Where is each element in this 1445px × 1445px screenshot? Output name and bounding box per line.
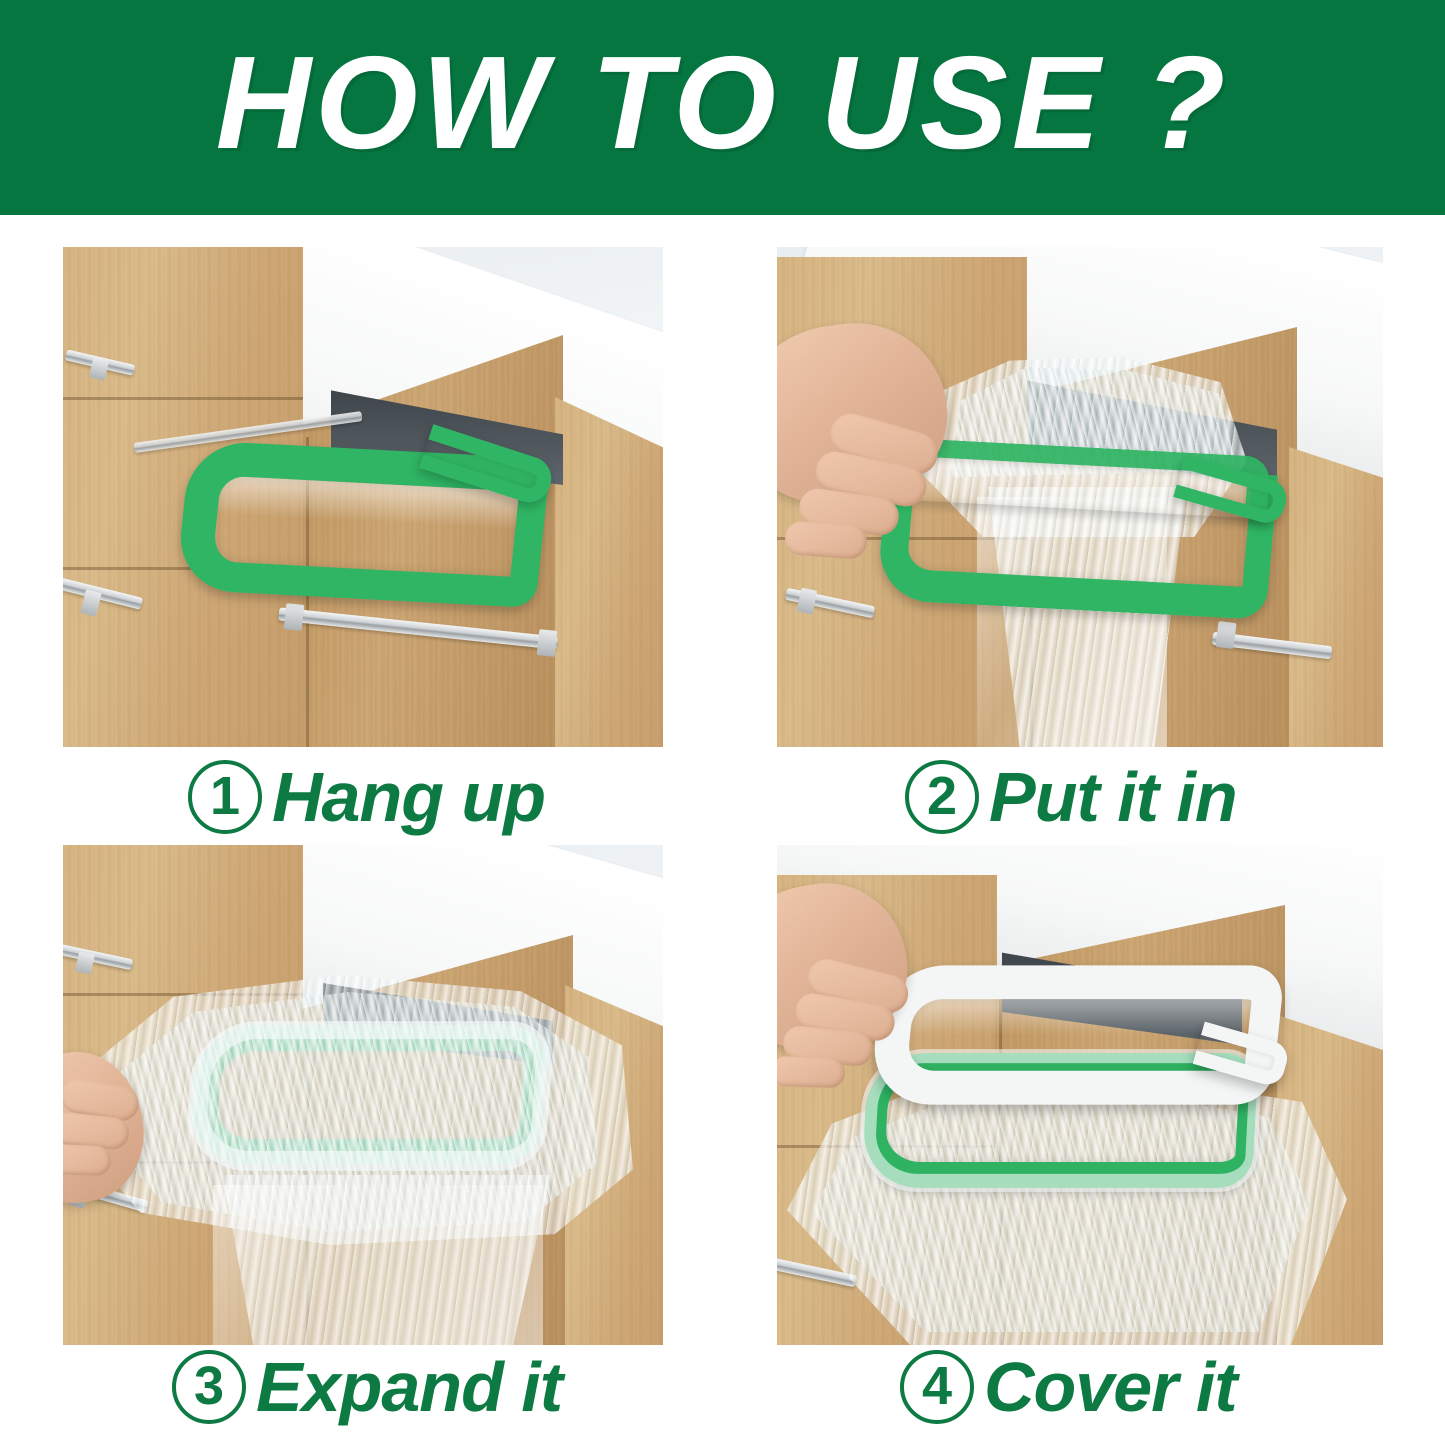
finger-little <box>784 520 868 560</box>
hand <box>63 1053 193 1233</box>
step-number-badge: 1 <box>188 760 262 834</box>
page-title: HOW TO USE ? <box>0 0 1445 215</box>
step-3-caption: 3 Expand it <box>172 1350 562 1424</box>
step-4-caption: 4 Cover it <box>900 1350 1237 1424</box>
door-handle-right-foot <box>1215 621 1236 649</box>
step-2-photo <box>777 247 1383 747</box>
photo-cover-it <box>777 845 1383 1345</box>
cabinet-door-right <box>555 397 663 747</box>
step-4-photo <box>777 845 1383 1345</box>
step-label: Cover it <box>984 1352 1237 1422</box>
photo-expand-it <box>63 845 663 1345</box>
header-banner: HOW TO USE ? <box>0 0 1445 215</box>
step-2-caption: 2 Put it in <box>905 760 1237 834</box>
cabinet-door-right <box>1289 447 1383 747</box>
step-number-badge: 4 <box>900 1350 974 1424</box>
cabinet-seam <box>63 397 303 400</box>
step-number-badge: 2 <box>905 760 979 834</box>
step-1-caption: 1 Hang up <box>188 760 545 834</box>
step-label: Expand it <box>256 1352 562 1422</box>
door-handle-left-foot <box>284 603 305 631</box>
step-label: Put it in <box>989 762 1237 832</box>
step-3-photo <box>63 845 663 1345</box>
plastic-bag-inner-ring <box>183 1021 554 1171</box>
finger-ring <box>63 1144 112 1176</box>
door-handle-right-foot <box>537 629 558 657</box>
step-1-photo <box>63 247 663 747</box>
plastic-bag-sheen <box>213 1185 543 1345</box>
step-label: Hang up <box>272 762 545 832</box>
photo-put-it-in <box>777 247 1383 747</box>
step-number-badge: 3 <box>172 1350 246 1424</box>
photo-hang-up <box>63 247 663 747</box>
hand <box>777 885 957 1105</box>
hand <box>777 325 997 575</box>
finger-little <box>777 1056 846 1089</box>
